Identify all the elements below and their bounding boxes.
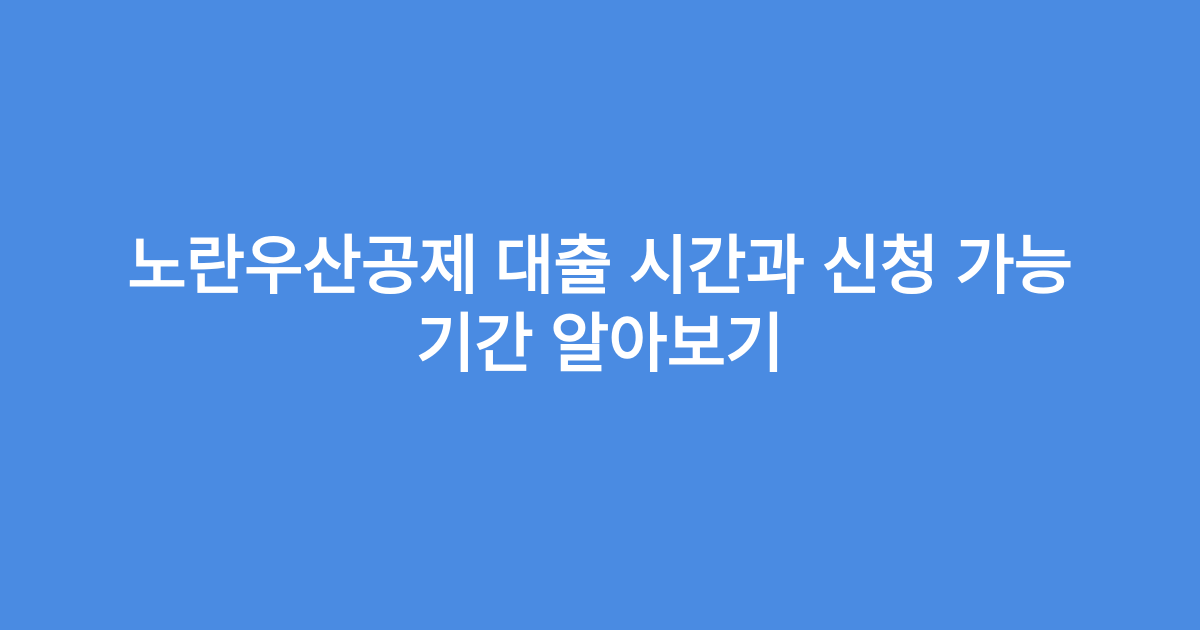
page-title: 노란우산공제 대출 시간과 신청 가능 기간 알아보기 xyxy=(70,227,1130,383)
og-image-card: 노란우산공제 대출 시간과 신청 가능 기간 알아보기 xyxy=(0,0,1200,630)
title-block: 노란우산공제 대출 시간과 신청 가능 기간 알아보기 xyxy=(70,227,1130,383)
